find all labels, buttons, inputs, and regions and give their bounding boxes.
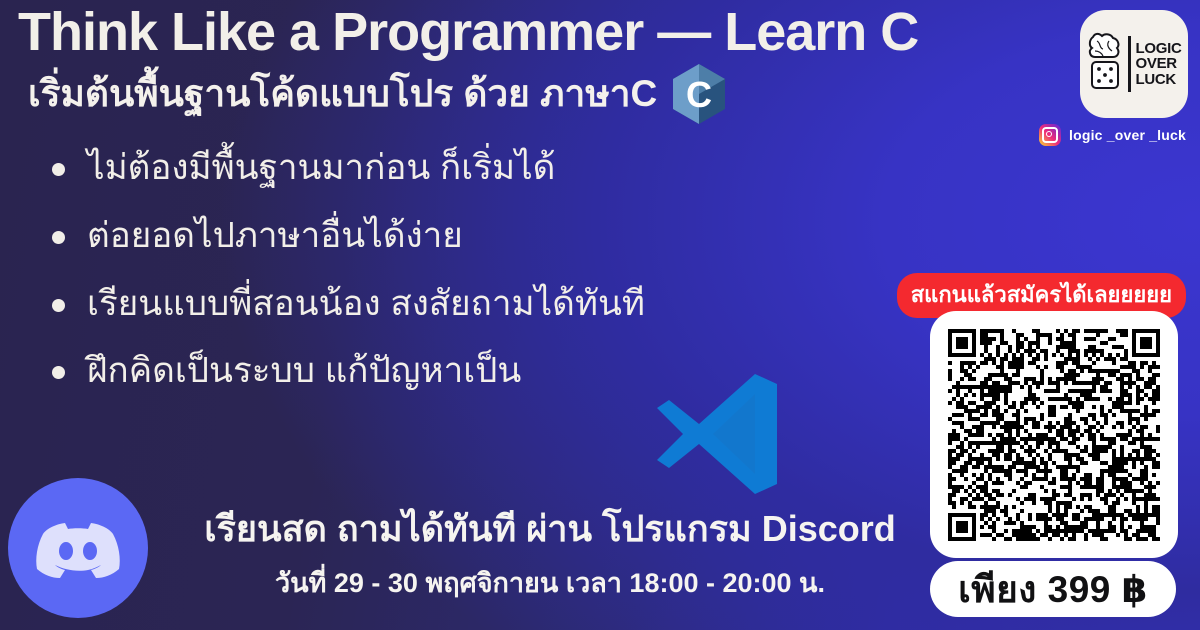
qr-code-icon[interactable] — [930, 311, 1178, 558]
footer-line-2: วันที่ 29 - 30 พฤศจิกายน เวลา 18:00 - 20… — [170, 561, 930, 604]
page-subtitle-row: เริ่มต้นพื้นฐานโค้ดแบบโปร ด้วย ภาษาC C — [28, 63, 1070, 125]
list-item: เรียนแบบพี่สอนน้อง สงสัยถามได้ทันที — [52, 282, 812, 326]
instagram-handle-label: logic _over _luck — [1069, 127, 1186, 143]
logo-divider — [1128, 36, 1131, 92]
bullet-dot-icon — [52, 299, 65, 312]
vscode-icon — [655, 372, 785, 497]
promo-poster: Think Like a Programmer — Learn C เริ่มต… — [0, 0, 1200, 630]
brand-line-3: LUCK — [1136, 72, 1182, 88]
svg-text:C: C — [686, 74, 712, 115]
header: Think Like a Programmer — Learn C เริ่มต… — [18, 4, 1070, 125]
discord-icon — [8, 478, 148, 618]
footer-text: เรียนสด ถามได้ทันที ผ่าน โปรแกรม Discord… — [170, 500, 930, 604]
price-badge: เพียง 399 ฿ — [930, 561, 1176, 617]
page-subtitle: เริ่มต้นพื้นฐานโค้ดแบบโปร ด้วย ภาษาC — [28, 64, 657, 123]
brand-logo-badge: LOGIC OVER LUCK — [1080, 10, 1188, 118]
bullet-dot-icon — [52, 163, 65, 176]
list-item-label: ไม่ต้องมีพื้นฐานมาก่อน ก็เริ่มได้ — [87, 146, 555, 190]
bullet-dot-icon — [52, 231, 65, 244]
list-item-label: ฝึกคิดเป็นระบบ แก้ปัญหาเป็น — [87, 349, 521, 393]
list-item: ต่อยอดไปภาษาอื่นได้ง่าย — [52, 214, 812, 258]
page-title: Think Like a Programmer — Learn C — [18, 4, 1070, 61]
list-item-label: เรียนแบบพี่สอนน้อง สงสัยถามได้ทันที — [87, 282, 645, 326]
qr-code-canvas — [948, 329, 1160, 541]
brand-line-1: LOGIC — [1136, 41, 1182, 57]
list-item: ไม่ต้องมีพื้นฐานมาก่อน ก็เริ่มได้ — [52, 146, 812, 190]
list-item-label: ต่อยอดไปภาษาอื่นได้ง่าย — [87, 214, 463, 258]
instagram-icon — [1039, 124, 1061, 146]
footer-line-1: เรียนสด ถามได้ทันที ผ่าน โปรแกรม Discord — [170, 500, 930, 557]
bullet-dot-icon — [52, 366, 65, 379]
instagram-handle-row[interactable]: logic _over _luck — [1039, 124, 1186, 146]
c-language-icon: C — [671, 63, 727, 125]
brand-name: LOGIC OVER LUCK — [1136, 41, 1182, 88]
brain-dice-icon — [1087, 31, 1123, 98]
brand-line-2: OVER — [1136, 56, 1182, 72]
